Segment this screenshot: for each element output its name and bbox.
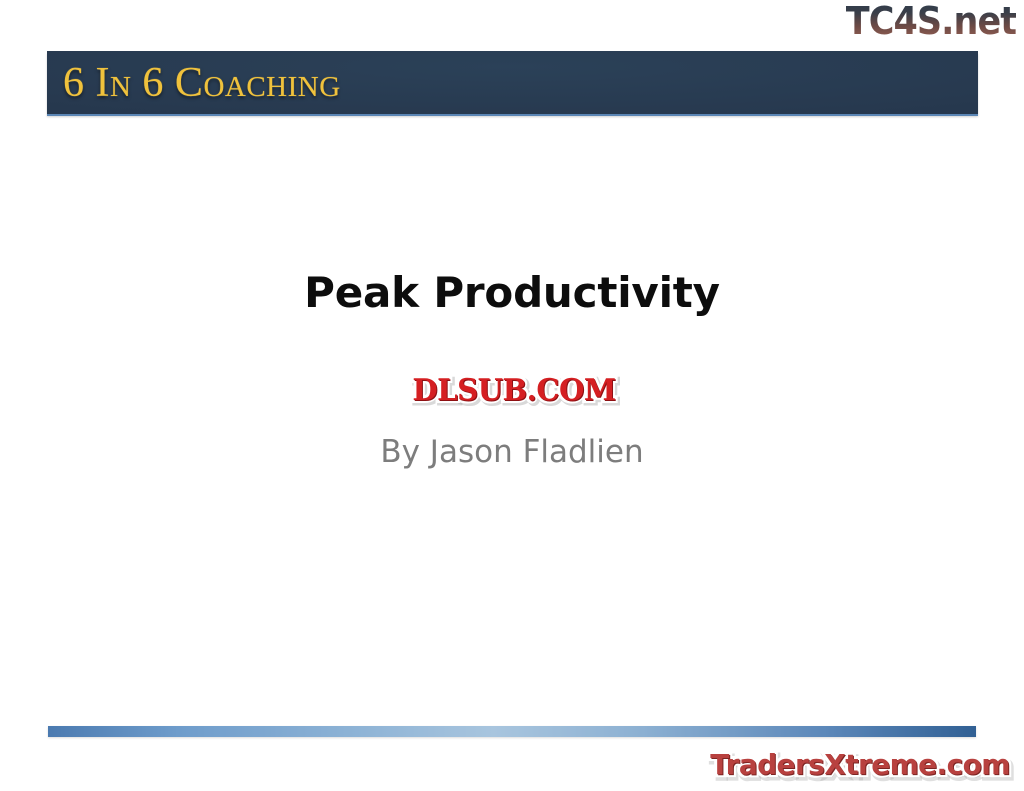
- watermark-tc4s-fill: TC4S.net: [846, 0, 1016, 43]
- slide-header-banner: 6 In 6 Coaching: [47, 51, 978, 114]
- watermark-dlsub: DLSUB.COM DLSUB.COM DLSUB.COM: [371, 374, 657, 408]
- presentation-slide: 6 In 6 Coaching Peak Productivity DLSUB.…: [0, 0, 1024, 791]
- watermark-tradersxtreme-fill: TradersXtreme.com: [704, 748, 1016, 782]
- watermark-tc4s: TC4S.net TC4S.net: [846, 2, 1016, 40]
- watermark-tradersxtreme: TradersXtreme.com TradersXtreme.com Trad…: [704, 748, 1016, 782]
- watermark-dlsub-fill: DLSUB.COM: [375, 374, 652, 408]
- slide-byline: By Jason Fladlien: [0, 434, 1024, 470]
- header-banner-title: 6 In 6 Coaching: [63, 62, 341, 104]
- slide-footer-rule: [48, 726, 976, 737]
- slide-title: Peak Productivity: [0, 268, 1024, 317]
